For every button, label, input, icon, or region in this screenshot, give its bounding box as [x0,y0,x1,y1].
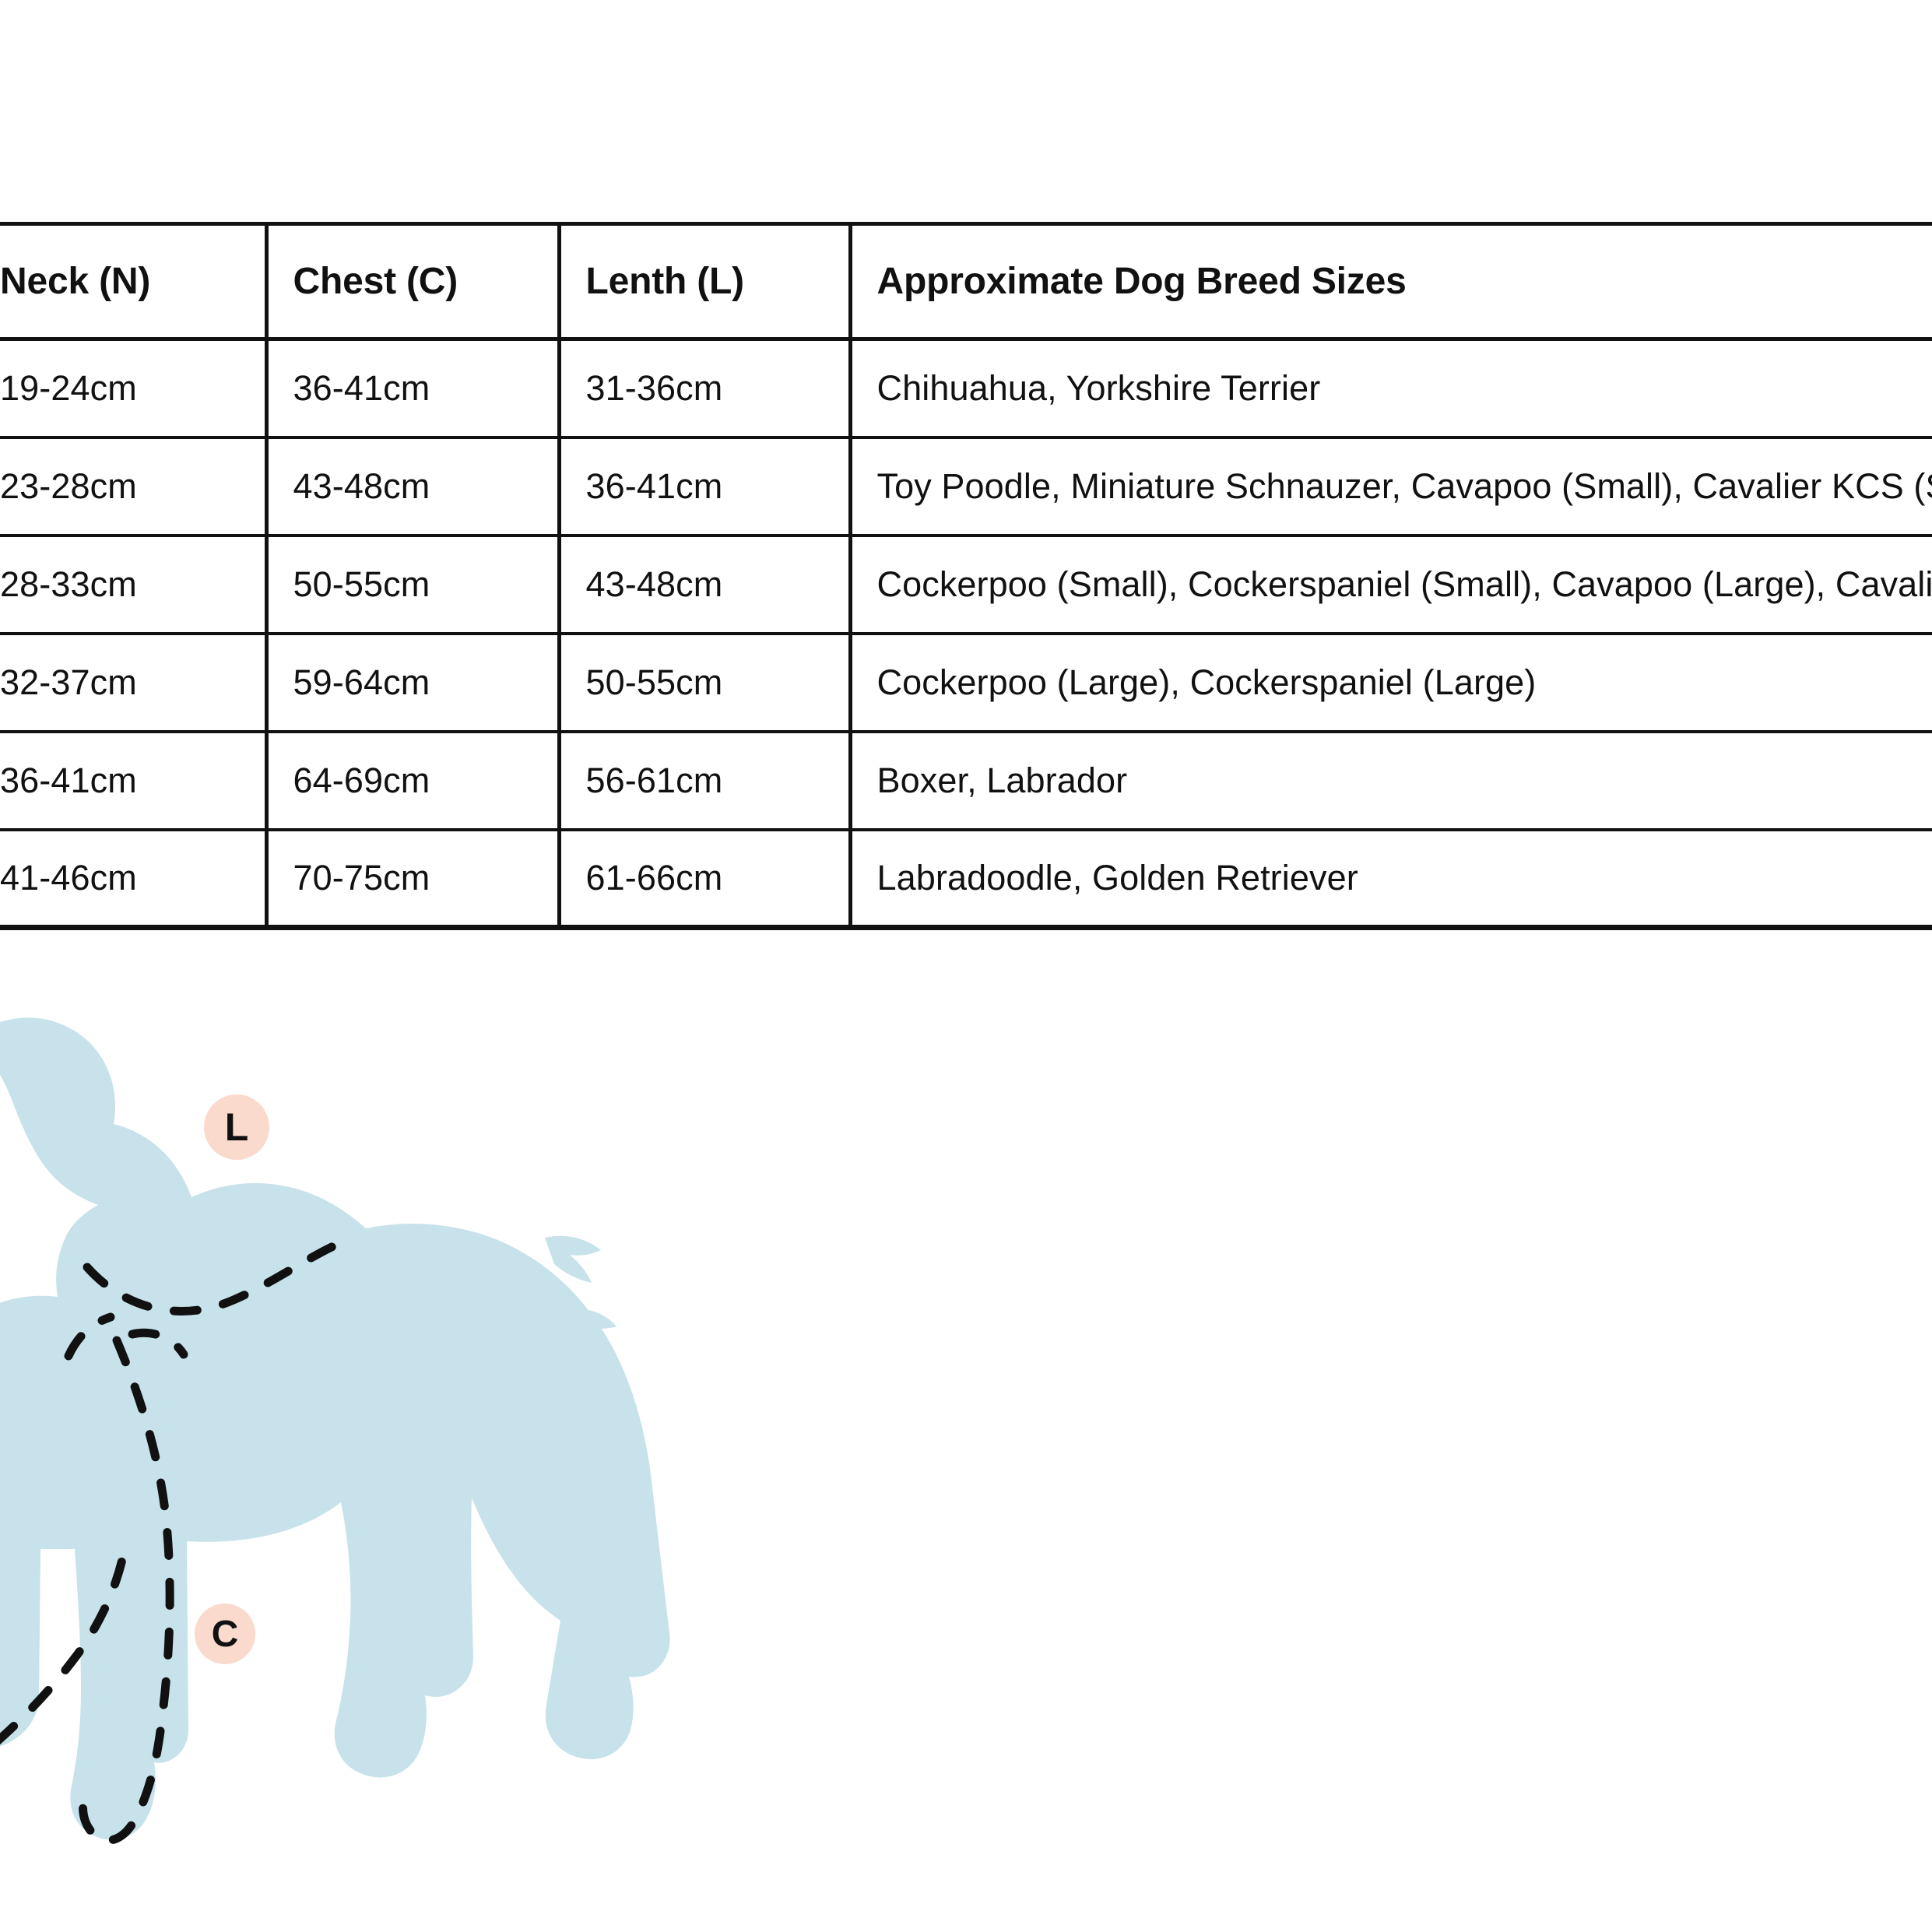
cell-chest: 59-64cm [266,634,559,732]
cell-breeds: Chihuahua, Yorkshire Terrier [850,339,1932,437]
cell-length: 31-36cm [559,339,850,437]
cell-length: 36-41cm [559,437,850,536]
table-row: 32-37cm 59-64cm 50-55cm Cockerpoo (Large… [0,634,1932,732]
column-header-neck: Neck (N) [0,224,266,339]
cell-breeds: Cockerpoo (Large), Cockerspaniel (Large) [850,634,1932,732]
cell-neck: 19-24cm [0,339,266,437]
breed-text: Boxer, Labrador [877,761,1932,801]
table-header-row: Neck (N) Chest (C) Lenth (L) Approximate… [0,224,1932,339]
cell-breeds: Labradoodle, Golden Retriever [850,830,1932,928]
table-header: Neck (N) Chest (C) Lenth (L) Approximate… [0,224,1932,339]
column-header-breeds: Approximate Dog Breed Sizes [850,224,1932,339]
cell-neck: 41-46cm [0,830,266,928]
breed-text: Labradoodle, Golden Retriever [877,858,1932,898]
cell-length: 56-61cm [559,732,850,830]
table-row: 28-33cm 50-55cm 43-48cm Cockerpoo (Small… [0,536,1932,634]
cell-length: 50-55cm [559,634,850,732]
badge-length-l: L [204,1094,269,1160]
table-row: 41-46cm 70-75cm 61-66cm Labradoodle, Gol… [0,830,1932,928]
badge-length-label: L [225,1105,249,1150]
table-row: 23-28cm 43-48cm 36-41cm Toy Poodle, Mini… [0,437,1932,536]
cell-length: 43-48cm [559,536,850,634]
dog-size-chart-table: Neck (N) Chest (C) Lenth (L) Approximate… [0,222,1932,930]
dog-measurement-diagram [0,1004,701,1932]
cell-breeds: Boxer, Labrador [850,732,1932,830]
badge-chest-label: C [212,1613,239,1656]
cell-neck: 23-28cm [0,437,266,536]
badge-chest-c: C [195,1604,255,1664]
cell-chest: 50-55cm [266,536,559,634]
cell-neck: 32-37cm [0,634,266,732]
cell-neck: 36-41cm [0,732,266,830]
cell-chest: 36-41cm [266,339,559,437]
cell-chest: 64-69cm [266,732,559,830]
cell-breeds: Cockerpoo (Small), Cockerspaniel (Small)… [850,536,1932,634]
breed-text: Toy Poodle, Miniature Schnauzer, Cavapoo… [877,466,1932,507]
dog-silhouette-icon [0,1017,669,1839]
cell-chest: 43-48cm [266,437,559,536]
column-header-length: Lenth (L) [559,224,850,339]
breed-text: Cockerpoo (Large), Cockerspaniel (Large) [877,662,1932,703]
table-row: 19-24cm 36-41cm 31-36cm Chihuahua, Yorks… [0,339,1932,437]
cell-breeds: Toy Poodle, Miniature Schnauzer, Cavapoo… [850,437,1932,536]
table-row: 36-41cm 64-69cm 56-61cm Boxer, Labrador [0,732,1932,830]
breed-text: Cockerpoo (Small), Cockerspaniel (Small)… [877,564,1932,605]
cell-chest: 70-75cm [266,830,559,928]
table-body: 19-24cm 36-41cm 31-36cm Chihuahua, Yorks… [0,339,1932,928]
cell-neck: 28-33cm [0,536,266,634]
breed-text: Chihuahua, Yorkshire Terrier [877,368,1932,409]
cell-length: 61-66cm [559,830,850,928]
column-header-chest: Chest (C) [266,224,559,339]
